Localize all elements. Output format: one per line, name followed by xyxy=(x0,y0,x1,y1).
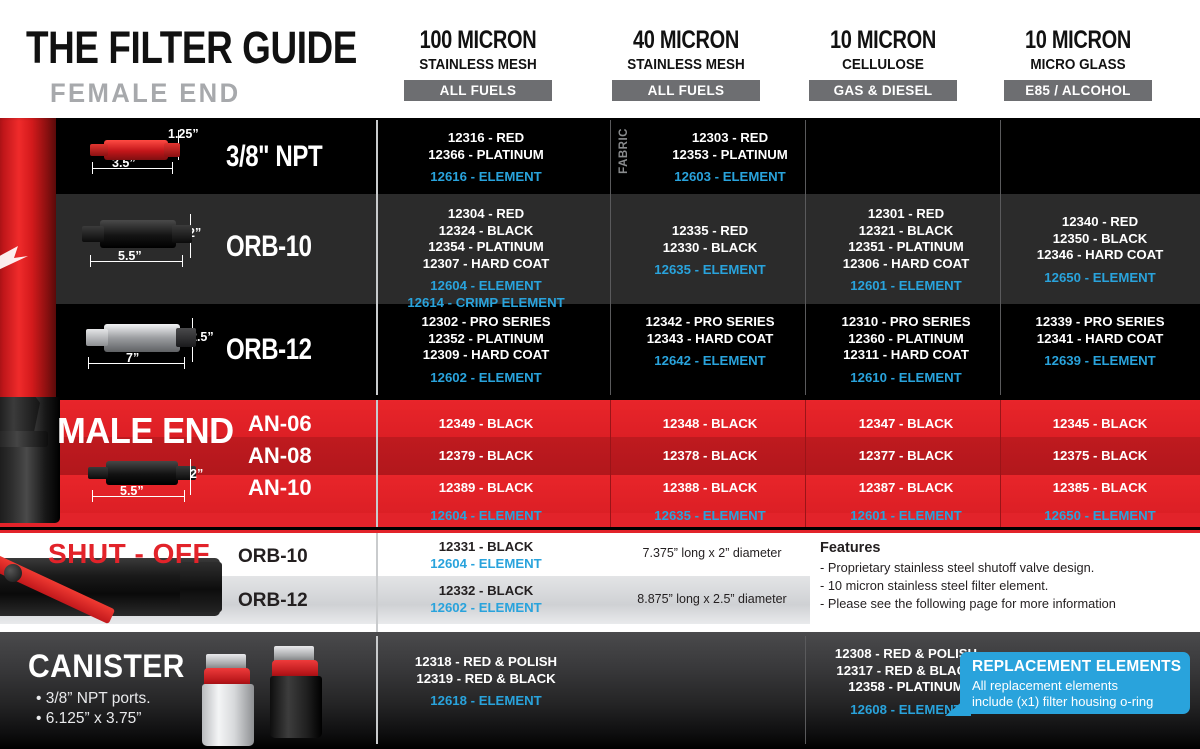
part-number: 12302 - PRO SERIES xyxy=(388,314,584,331)
shut-off-section: SHUT - OFF ORB-10 ORB-12 12331 - BLACK 1… xyxy=(0,530,1200,632)
element-part-number: 12614 - CRIMP ELEMENT xyxy=(388,295,584,312)
cell-male-element-10micron-microglass: 12650 - ELEMENT xyxy=(1002,508,1198,525)
cell-an06-40micron: 12348 - BLACK xyxy=(612,416,808,433)
cell-an08-10micron-cellulose: 12377 - BLACK xyxy=(808,448,1004,465)
part-number: 12335 - RED xyxy=(612,223,808,240)
section-divider xyxy=(0,530,1200,533)
part-number: 12349 - BLACK xyxy=(388,416,584,433)
black-male-fitting-hero-image xyxy=(0,397,60,523)
cell-male-element-40micron: 12635 - ELEMENT xyxy=(612,508,808,525)
part-number: 12340 - RED xyxy=(1002,214,1198,231)
section-divider xyxy=(0,397,1200,400)
part-number: 12324 - BLACK xyxy=(388,223,584,240)
column-micron-label: 40 MICRON xyxy=(608,28,765,53)
part-number: 12307 - HARD COAT xyxy=(388,256,584,273)
cell-orb10-40micron: 12335 - RED12330 - BLACK12635 - ELEMENT xyxy=(612,223,808,279)
element-part-number: 12604 - ELEMENT xyxy=(388,508,584,525)
cell-an06-100micron: 12349 - BLACK xyxy=(388,416,584,433)
product-thumbnail-male-end xyxy=(86,455,206,495)
product-thumbnail-orb12 xyxy=(86,316,206,364)
part-number: 12378 - BLACK xyxy=(612,448,808,465)
column-media-label: MICRO GLASS xyxy=(987,57,1169,73)
element-part-number: 12650 - ELEMENT xyxy=(1002,508,1198,525)
part-number: 12310 - PRO SERIES xyxy=(808,314,1004,331)
part-number: 12318 - RED & POLISH xyxy=(388,654,584,671)
part-number: 12350 - BLACK xyxy=(1002,231,1198,248)
cell-orb12-10micron-microglass: 12339 - PRO SERIES12341 - HARD COAT12639… xyxy=(1002,314,1198,370)
shut-off-title: SHUT - OFF xyxy=(48,538,210,570)
row-label-orb10: ORB-10 xyxy=(226,230,312,264)
male-end-section: MALE END AN-06 AN-08 AN-10 5.5” 2” 12349… xyxy=(0,397,1200,530)
canister-bullet: • 3/8” NPT ports. xyxy=(36,690,151,708)
column-divider xyxy=(376,636,378,744)
part-number: 12351 - PLATINUM xyxy=(808,239,1004,256)
part-number: 12306 - HARD COAT xyxy=(808,256,1004,273)
cell-an06-10micron-cellulose: 12347 - BLACK xyxy=(808,416,1004,433)
column-fuel-badge: E85 / ALCOHOL xyxy=(1004,80,1152,101)
cell-an06-10micron-microglass: 12345 - BLACK xyxy=(1002,416,1198,433)
column-header-40-micron: 40 MICRON STAINLESS MESH ALL FUELS xyxy=(588,28,784,101)
row-label-an10: AN-10 xyxy=(248,475,312,501)
column-fuel-badge: ALL FUELS xyxy=(612,80,760,101)
part-number: 12343 - HARD COAT xyxy=(612,331,808,348)
part-number: 12377 - BLACK xyxy=(808,448,1004,465)
element-part-number: 12635 - ELEMENT xyxy=(612,262,808,279)
cell-shutoff-orb10-part: 12331 - BLACK 12604 - ELEMENT xyxy=(388,539,584,572)
male-end-title: MALE END xyxy=(57,410,234,452)
dimension-diameter-male: 2” xyxy=(190,467,203,481)
column-divider xyxy=(376,400,378,527)
row-label-shutoff-orb10: ORB-10 xyxy=(238,546,308,568)
cell-orb12-40micron: 12342 - PRO SERIES12343 - HARD COAT12642… xyxy=(612,314,808,370)
canister-image-black xyxy=(262,646,330,742)
callout-title: REPLACEMENT ELEMENTS xyxy=(972,658,1181,676)
element-part-number: 12639 - ELEMENT xyxy=(1002,353,1198,370)
element-part-number: 12602 - ELEMENT xyxy=(388,370,584,387)
cell-an08-40micron: 12378 - BLACK xyxy=(612,448,808,465)
part-number: 12352 - PLATINUM xyxy=(388,331,584,348)
column-divider xyxy=(610,400,611,527)
page-title: THE FILTER GUIDE xyxy=(26,22,357,74)
female-end-section: 3.5” 1.25” 3/8" NPT 5.5” 2” ORB-10 7” 2.… xyxy=(0,118,1200,397)
column-header-10-micron-micro-glass: 10 MICRON MICRO GLASS E85 / ALCOHOL xyxy=(980,28,1176,101)
element-part-number: 12618 - ELEMENT xyxy=(388,693,584,710)
element-part-number: 12601 - ELEMENT xyxy=(808,508,1004,525)
part-number: 12387 - BLACK xyxy=(808,480,1004,497)
header: THE FILTER GUIDE FEMALE END 100 MICRON S… xyxy=(0,0,1200,118)
element-part-number: 12603 - ELEMENT xyxy=(632,169,828,186)
cell-shutoff-orb12-part: 12332 - BLACK 12602 - ELEMENT xyxy=(388,583,584,616)
dimension-length-male: 5.5” xyxy=(120,484,144,498)
column-micron-label: 100 MICRON xyxy=(400,28,557,53)
row-label-npt: 3/8" NPT xyxy=(226,140,322,174)
part-number: 12301 - RED xyxy=(808,206,1004,223)
row-label-shutoff-orb12: ORB-12 xyxy=(238,590,308,612)
element-part-number: 12604 - ELEMENT xyxy=(388,278,584,295)
canister-image-polish xyxy=(196,654,262,742)
canister-bullet: • 6.125” x 3.75” xyxy=(36,710,141,728)
part-number: 12331 - BLACK xyxy=(388,539,584,556)
row-label-an06: AN-06 xyxy=(248,411,312,437)
part-number: 12316 - RED xyxy=(388,130,584,147)
part-number: 12347 - BLACK xyxy=(808,416,1004,433)
features-heading: Features xyxy=(820,540,880,556)
part-number: 12353 - PLATINUM xyxy=(632,147,828,164)
column-media-label: CELLULOSE xyxy=(792,57,974,73)
element-part-number: 12616 - ELEMENT xyxy=(388,169,584,186)
column-divider xyxy=(805,636,806,744)
product-thumbnail-orb10 xyxy=(82,212,202,262)
part-number: 12330 - BLACK xyxy=(612,240,808,257)
part-number: 12360 - PLATINUM xyxy=(808,331,1004,348)
cell-orb10-10micron-microglass: 12340 - RED12350 - BLACK12346 - HARD COA… xyxy=(1002,214,1198,286)
cell-orb10-100micron: 12304 - RED12324 - BLACK12354 - PLATINUM… xyxy=(388,206,584,311)
fabric-tag: FABRIC xyxy=(618,128,630,174)
cell-npt-40micron: 12303 - RED12353 - PLATINUM12603 - ELEME… xyxy=(632,130,828,186)
column-media-label: STAINLESS MESH xyxy=(595,57,777,73)
product-thumbnail-npt xyxy=(88,132,188,172)
part-number: 12321 - BLACK xyxy=(808,223,1004,240)
column-micron-label: 10 MICRON xyxy=(805,28,962,53)
column-fuel-badge: GAS & DIESEL xyxy=(809,80,957,101)
element-part-number: 12610 - ELEMENT xyxy=(808,370,1004,387)
feature-item: - Please see the following page for more… xyxy=(820,596,1116,611)
dimension-shutoff-orb10: 7.375” long x 2” diameter xyxy=(612,546,812,560)
row-label-an08: AN-08 xyxy=(248,443,312,469)
part-number: 12379 - BLACK xyxy=(388,448,584,465)
column-micron-label: 10 MICRON xyxy=(1000,28,1157,53)
part-number: 12348 - BLACK xyxy=(612,416,808,433)
feature-item: - 10 micron stainless steel filter eleme… xyxy=(820,578,1048,593)
cell-male-element-100micron: 12604 - ELEMENT xyxy=(388,508,584,525)
cell-orb12-10micron-cellulose: 12310 - PRO SERIES12360 - PLATINUM12311 … xyxy=(808,314,1004,386)
element-part-number: 12650 - ELEMENT xyxy=(1002,270,1198,287)
part-number: 12342 - PRO SERIES xyxy=(612,314,808,331)
column-media-label: STAINLESS MESH xyxy=(387,57,569,73)
part-number: 12366 - PLATINUM xyxy=(388,147,584,164)
column-fuel-badge: ALL FUELS xyxy=(404,80,552,101)
element-part-number: 12604 - ELEMENT xyxy=(388,556,584,573)
cell-an10-100micron: 12389 - BLACK xyxy=(388,480,584,497)
cell-an08-10micron-microglass: 12375 - BLACK xyxy=(1002,448,1198,465)
part-number: 12388 - BLACK xyxy=(612,480,808,497)
part-number: 12303 - RED xyxy=(632,130,828,147)
column-header-100-micron: 100 MICRON STAINLESS MESH ALL FUELS xyxy=(380,28,576,101)
part-number: 12346 - HARD COAT xyxy=(1002,247,1198,264)
column-header-10-micron-cellulose: 10 MICRON CELLULOSE GAS & DIESEL xyxy=(785,28,981,101)
cell-male-element-10micron-cellulose: 12601 - ELEMENT xyxy=(808,508,1004,525)
part-number: 12354 - PLATINUM xyxy=(388,239,584,256)
red-filter-hero-image xyxy=(0,118,56,397)
dimension-tick xyxy=(184,490,185,502)
part-number: 12345 - BLACK xyxy=(1002,416,1198,433)
column-divider xyxy=(376,533,378,632)
cell-an10-10micron-cellulose: 12387 - BLACK xyxy=(808,480,1004,497)
row-label-orb12: ORB-12 xyxy=(226,333,312,367)
cell-an10-10micron-microglass: 12385 - BLACK xyxy=(1002,480,1198,497)
cell-npt-100micron: 12316 - RED12366 - PLATINUM12616 - ELEME… xyxy=(388,130,584,186)
part-number: 12309 - HARD COAT xyxy=(388,347,584,364)
part-number: 12304 - RED xyxy=(388,206,584,223)
dimension-shutoff-orb12: 8.875” long x 2.5” diameter xyxy=(612,592,812,606)
cell-an10-40micron: 12388 - BLACK xyxy=(612,480,808,497)
feature-item: - Proprietary stainless steel shutoff va… xyxy=(820,560,1094,575)
element-part-number: 12602 - ELEMENT xyxy=(388,600,584,617)
canister-title: CANISTER xyxy=(28,648,185,685)
filter-guide-page: THE FILTER GUIDE FEMALE END 100 MICRON S… xyxy=(0,0,1200,749)
cell-orb10-10micron-cellulose: 12301 - RED12321 - BLACK12351 - PLATINUM… xyxy=(808,206,1004,295)
part-number: 12341 - HARD COAT xyxy=(1002,331,1198,348)
female-end-subtitle: FEMALE END xyxy=(50,78,240,109)
dimension-tick xyxy=(92,490,93,502)
column-divider xyxy=(376,120,378,395)
cell-canister-100micron: 12318 - RED & POLISH12319 - RED & BLACK1… xyxy=(388,654,584,710)
part-number: 12339 - PRO SERIES xyxy=(1002,314,1198,331)
callout-line: include (x1) filter housing o-ring xyxy=(972,694,1153,709)
part-number: 12375 - BLACK xyxy=(1002,448,1198,465)
cell-an08-100micron: 12379 - BLACK xyxy=(388,448,584,465)
replacement-elements-callout: REPLACEMENT ELEMENTS All replacement ele… xyxy=(960,652,1190,714)
part-number: 12311 - HARD COAT xyxy=(808,347,1004,364)
element-part-number: 12642 - ELEMENT xyxy=(612,353,808,370)
part-number: 12332 - BLACK xyxy=(388,583,584,600)
element-part-number: 12601 - ELEMENT xyxy=(808,278,1004,295)
part-number: 12319 - RED & BLACK xyxy=(388,671,584,688)
aeromotive-logo-icon xyxy=(0,238,38,278)
element-part-number: 12635 - ELEMENT xyxy=(612,508,808,525)
cell-orb12-100micron: 12302 - PRO SERIES12352 - PLATINUM12309 … xyxy=(388,314,584,386)
column-divider xyxy=(610,120,611,395)
part-number: 12389 - BLACK xyxy=(388,480,584,497)
shutoff-lever-pivot xyxy=(4,564,22,582)
part-number: 12385 - BLACK xyxy=(1002,480,1198,497)
callout-line: All replacement elements xyxy=(972,678,1118,693)
